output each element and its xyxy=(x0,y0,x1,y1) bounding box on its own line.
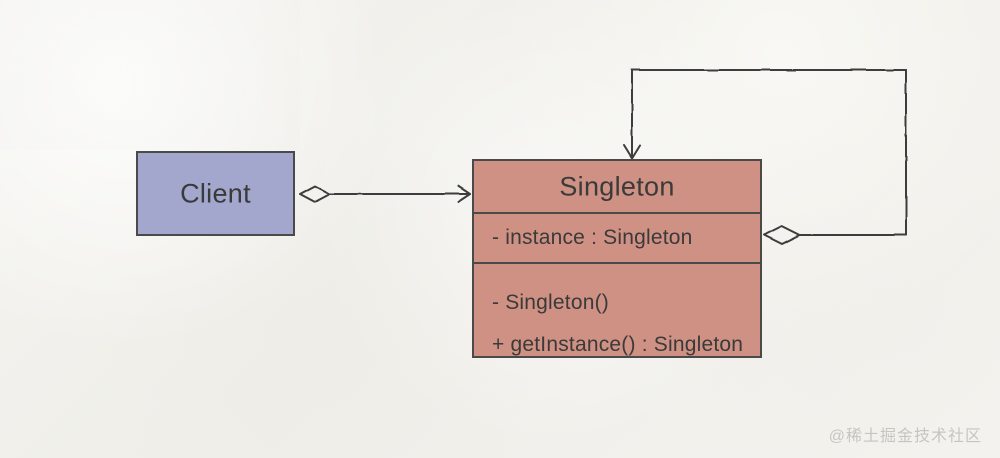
attribute-instance: - instance : Singleton xyxy=(474,226,760,250)
compartment-name: Singleton xyxy=(474,161,760,212)
aggregation-diamond-client xyxy=(300,186,330,202)
watermark: @稀土掘金技术社区 xyxy=(829,422,982,446)
class-name-singleton: Singleton xyxy=(474,171,760,202)
method-get-instance: + getInstance() : Singleton xyxy=(474,333,760,357)
compartment-attributes: - instance : Singleton xyxy=(474,214,760,262)
diagram-canvas: Client Singleton - instance : Singleton … xyxy=(0,0,1000,458)
class-box-singleton[interactable]: Singleton - instance : Singleton - Singl… xyxy=(472,159,762,358)
class-box-client[interactable]: Client xyxy=(136,151,295,236)
aggregation-diamond-singleton xyxy=(764,226,800,244)
compartment-methods: - Singleton() + getInstance() : Singleto… xyxy=(474,264,760,356)
method-constructor: - Singleton() xyxy=(474,291,760,315)
class-name-client: Client xyxy=(138,178,293,209)
connector-client-to-singleton xyxy=(300,186,470,202)
